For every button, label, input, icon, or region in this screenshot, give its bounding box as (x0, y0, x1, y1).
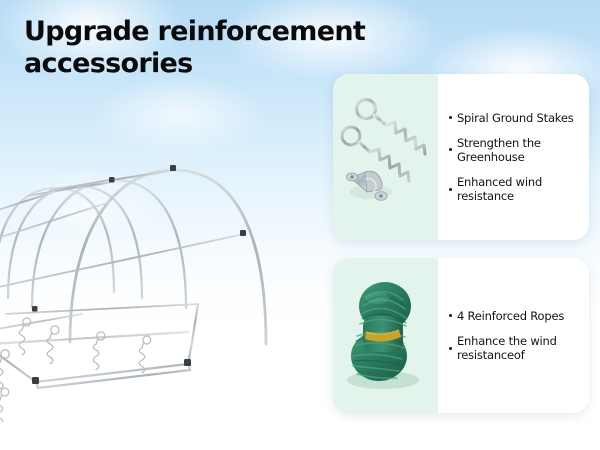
bullet-label: Enhanced wind resistance (457, 175, 579, 203)
bullet-label: Enhance the wind resistanceof (457, 334, 579, 362)
bullet-label: 4 Reinforced Ropes (457, 309, 564, 323)
bullet-item: Strengthen the Greenhouse (449, 136, 579, 164)
bullet-dot-icon (449, 347, 452, 350)
bullet-dot-icon (449, 188, 452, 191)
bullet-dot-icon (449, 148, 452, 151)
reinforced-ropes-bullets: 4 Reinforced Ropes Enhance the wind resi… (438, 258, 589, 413)
bullet-dot-icon (449, 314, 452, 317)
infographic-canvas: Upgrade reinforcement accessories (0, 0, 600, 450)
product-card-spiral-ground-stakes[interactable]: Spiral Ground Stakes Strengthen the Gree… (333, 74, 589, 240)
greenhouse-frame-illustration (0, 92, 342, 422)
bullet-label: Strengthen the Greenhouse (457, 136, 579, 164)
product-card-reinforced-ropes[interactable]: 4 Reinforced Ropes Enhance the wind resi… (333, 258, 589, 413)
page-title: Upgrade reinforcement accessories (24, 16, 404, 80)
bullet-item: 4 Reinforced Ropes (449, 309, 579, 323)
bullet-item: Enhance the wind resistanceof (449, 334, 579, 362)
spiral-ground-stakes-bullets: Spiral Ground Stakes Strengthen the Gree… (438, 74, 589, 240)
spiral-ground-stakes-photo (333, 74, 438, 240)
bullet-dot-icon (449, 116, 452, 119)
bullet-item: Spiral Ground Stakes (449, 111, 579, 125)
bullet-label: Spiral Ground Stakes (457, 111, 574, 125)
bullet-item: Enhanced wind resistance (449, 175, 579, 203)
green-rope-bundle-photo (333, 258, 438, 413)
